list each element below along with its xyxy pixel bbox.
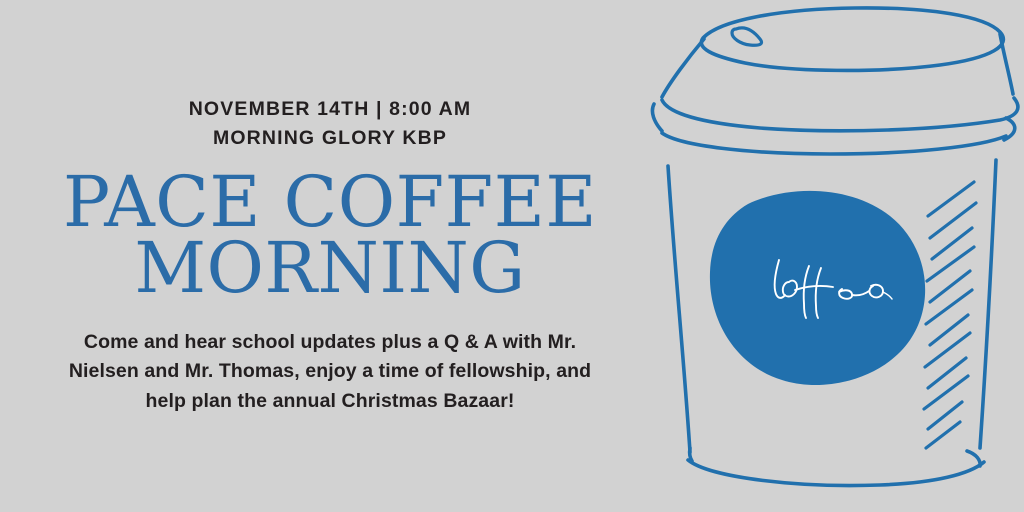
script-letter-f2 — [816, 268, 821, 318]
event-description: Come and hear school updates plus a Q & … — [65, 328, 595, 417]
cup-bottom — [688, 460, 984, 486]
lid-top-outline — [701, 8, 1003, 70]
flyer-canvas: November 14th | 8:00 AM Morning Glory KB… — [0, 0, 1024, 512]
text-column: November 14th | 8:00 AM Morning Glory KB… — [0, 0, 660, 512]
lid-rim-upper — [662, 98, 1018, 131]
title-line-2: Morning — [63, 235, 597, 302]
script-letter-e2 — [869, 285, 883, 298]
cup-right-wall — [980, 160, 996, 448]
script-final-flick — [883, 292, 892, 299]
event-location: Morning Glory KBP — [189, 124, 472, 153]
lid-rim-lower — [662, 133, 1006, 154]
page-title: Pace Coffee Morning — [63, 169, 597, 302]
script-letter-f1 — [804, 266, 809, 318]
title-line-1: Pace Coffee — [63, 169, 597, 236]
script-connector — [852, 291, 869, 295]
lid-left-skirt — [662, 39, 704, 97]
coffee-script-word — [765, 252, 915, 322]
lid-sip-hole — [732, 28, 762, 45]
lid-rim-right-hook — [1004, 118, 1015, 140]
event-meta: November 14th | 8:00 AM Morning Glory KB… — [189, 95, 472, 152]
cup-shading-hatch — [924, 182, 976, 448]
event-date-time: November 14th | 8:00 AM — [189, 95, 472, 124]
cup-bottom-right-hook — [967, 451, 980, 466]
cup-left-wall — [668, 166, 690, 452]
lid-right-skirt — [1000, 34, 1013, 94]
cup-bottom-left-tick — [690, 448, 692, 461]
script-f-crossbar — [795, 286, 833, 290]
script-letter-e1 — [839, 289, 852, 299]
script-letter-o — [783, 281, 797, 297]
